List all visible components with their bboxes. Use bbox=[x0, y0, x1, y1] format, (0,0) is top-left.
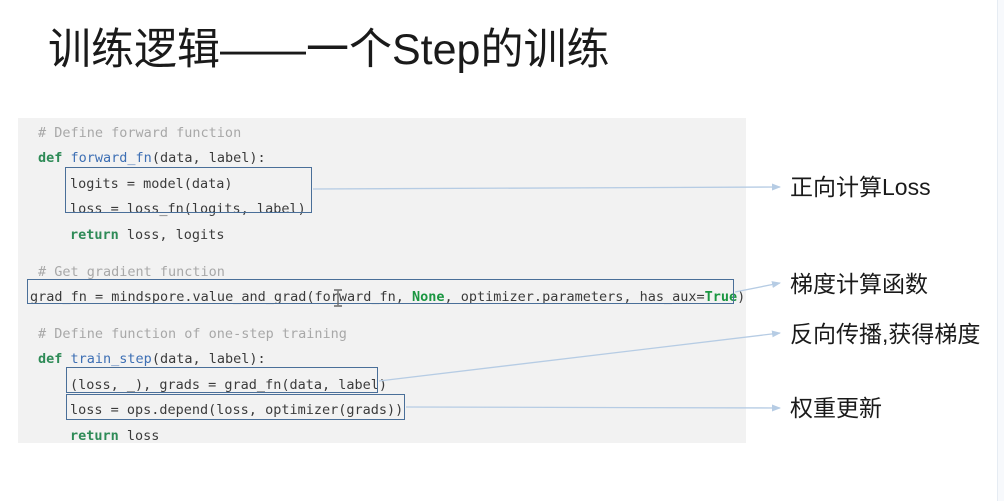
function-name-train-step: train_step bbox=[71, 351, 152, 367]
highlight-box-backward bbox=[66, 367, 378, 393]
code-signature: (data, label): bbox=[152, 150, 266, 166]
code-line-def-train-step: def train_step(data, label): bbox=[38, 350, 266, 368]
highlight-box-weight-update bbox=[66, 394, 405, 420]
code-line-comment-one-step: # Define function of one-step training bbox=[38, 325, 347, 343]
highlight-box-forward-loss bbox=[65, 167, 312, 213]
keyword-def-2: def bbox=[38, 351, 62, 367]
page-right-edge bbox=[997, 0, 1004, 501]
keyword-return-2: return bbox=[70, 428, 119, 444]
code-line-return-loss: return loss bbox=[70, 427, 159, 445]
highlight-box-grad-fn bbox=[27, 279, 734, 304]
code-line-comment-forward: # Define forward function bbox=[38, 124, 241, 142]
slide-canvas: 训练逻辑——一个Step的训练 # Define forward functio… bbox=[0, 0, 1004, 501]
annotation-backward-gradient: 反向传播,获得梯度 bbox=[790, 319, 980, 349]
code-grad-seg-c: ) bbox=[737, 289, 745, 305]
code-signature-2: (data, label): bbox=[152, 351, 266, 367]
annotation-weight-update: 权重更新 bbox=[790, 393, 882, 423]
code-space-2 bbox=[62, 351, 70, 367]
code-return-values: loss, logits bbox=[119, 227, 225, 243]
page-title: 训练逻辑——一个Step的训练 bbox=[48, 22, 609, 78]
function-name-forward-fn: forward_fn bbox=[71, 150, 152, 166]
code-line-return-loss-logits: return loss, logits bbox=[70, 226, 224, 244]
keyword-def: def bbox=[38, 150, 62, 166]
annotation-gradient-function: 梯度计算函数 bbox=[790, 269, 928, 299]
code-line-def-forward-fn: def forward_fn(data, label): bbox=[38, 149, 266, 167]
annotation-forward-loss: 正向计算Loss bbox=[790, 172, 931, 202]
keyword-return: return bbox=[70, 227, 119, 243]
code-space bbox=[62, 150, 70, 166]
code-return-value-2: loss bbox=[119, 428, 160, 444]
text-ibeam-cursor bbox=[332, 289, 344, 307]
